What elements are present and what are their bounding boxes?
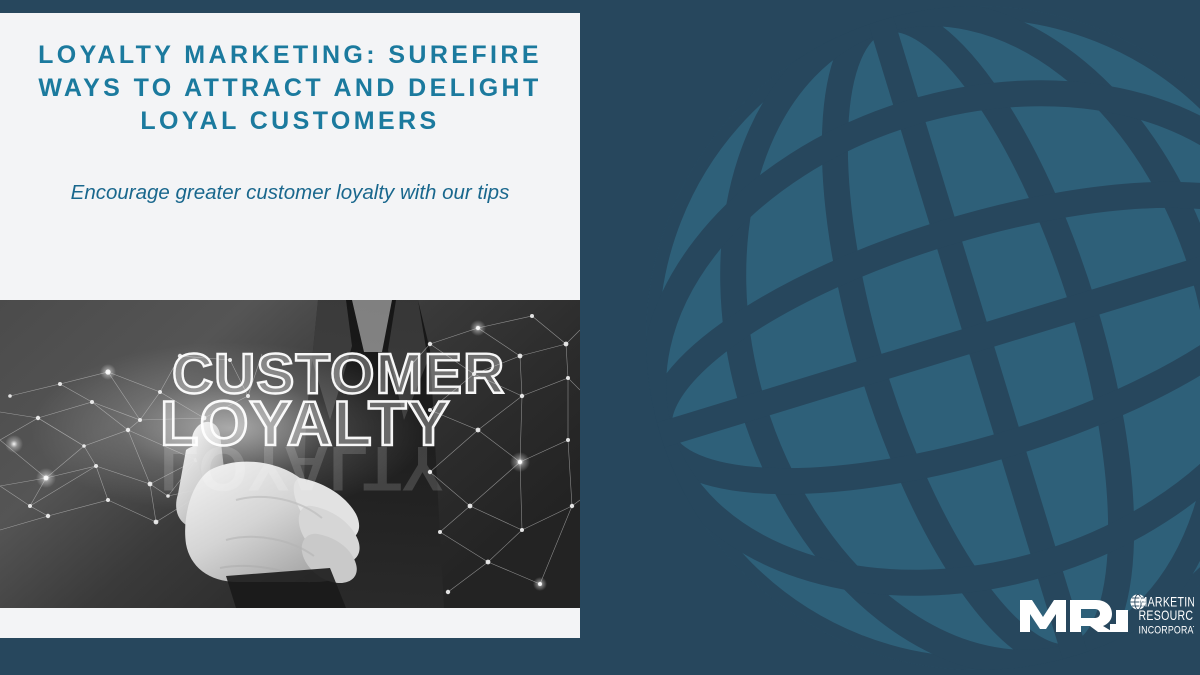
mri-logo: MARKETING RESOURCES INCORPORATED: [1018, 590, 1194, 638]
content-card: Loyalty Marketing: Surefire Ways to Attr…: [0, 13, 580, 638]
logo-line3: INCORPORATED: [1139, 625, 1194, 637]
page-subtitle: Encourage greater customer loyalty with …: [30, 138, 550, 206]
page-title: Loyalty Marketing: Surefire Ways to Attr…: [30, 39, 550, 138]
logo-line2: RESOURCES: [1139, 608, 1194, 624]
slide-canvas: Loyalty Marketing: Surefire Ways to Attr…: [0, 0, 1200, 675]
customer-loyalty-photo: CUSTOMER CUSTOMER LOYALTY LOYALTY LOYALT…: [0, 300, 580, 608]
svg-text:LOYALTY: LOYALTY: [160, 433, 444, 503]
card-text-block: Loyalty Marketing: Surefire Ways to Attr…: [0, 13, 580, 274]
